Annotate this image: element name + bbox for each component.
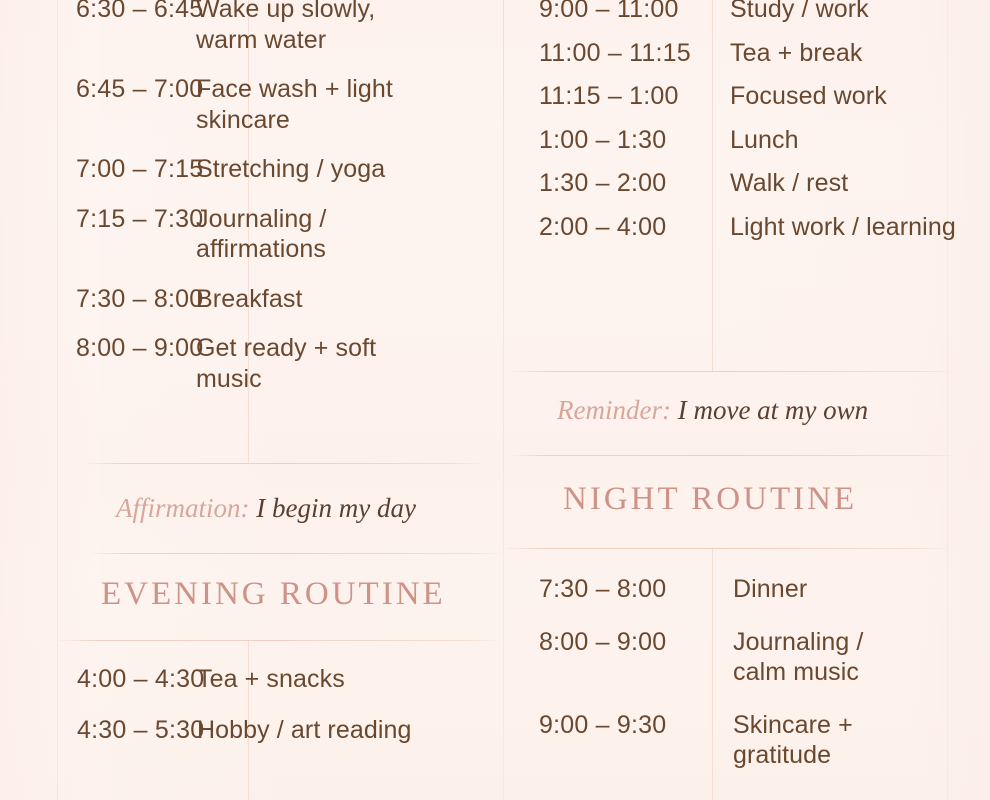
row-activity: Get ready + soft music — [175, 333, 428, 394]
row-time: 11:15 – 1:00 — [503, 81, 712, 112]
row-activity: Journaling / affirmations — [175, 204, 428, 265]
table-row: 1:30 – 2:00 Walk / rest — [503, 168, 990, 199]
row-activity: Walk / rest — [712, 168, 970, 199]
affirmation-bottom-divider — [92, 553, 502, 554]
table-row: 1:00 – 1:30 Lunch — [503, 125, 990, 156]
row-activity: Tea + break — [712, 38, 970, 69]
affirmation-text: I begin my day — [256, 493, 416, 523]
row-time: 2:00 – 4:00 — [503, 212, 712, 243]
table-row: 8:00 – 9:00 Journaling / calm music — [503, 627, 990, 688]
row-activity: Skincare + gratitude — [712, 710, 918, 771]
reminder-line: Reminder: I move at my own — [557, 394, 868, 426]
table-row: 2:00 – 4:00 Light work / learning — [503, 212, 990, 243]
affirmation-line: Affirmation: I begin my day — [116, 492, 416, 524]
row-activity: Hobby / art reading — [175, 715, 422, 746]
table-row: 4:30 – 5:30 Hobby / art reading — [0, 715, 503, 746]
table-row: 6:45 – 7:00 Face wash + light skincare — [0, 74, 503, 135]
table-row: 11:15 – 1:00 Focused work — [503, 81, 990, 112]
affirmation-label: Affirmation: — [116, 493, 250, 523]
row-time: 9:00 – 9:30 — [503, 710, 712, 741]
row-time: 4:00 – 4:30 — [0, 664, 175, 695]
row-activity: Lunch — [712, 125, 970, 156]
table-row: 7:15 – 7:30 Journaling / affirmations — [0, 204, 503, 265]
morning-routine-table: 6:30 – 6:45 Wake up slowly, warm water 6… — [0, 0, 503, 413]
row-time: 7:00 – 7:15 — [0, 154, 175, 185]
row-activity: Face wash + light skincare — [175, 74, 428, 135]
row-activity: Journaling / calm music — [712, 627, 918, 688]
row-activity: Focused work — [712, 81, 970, 112]
morning-section-divider — [88, 463, 485, 464]
table-row: 7:00 – 7:15 Stretching / yoga — [0, 154, 503, 185]
table-row: 7:30 – 8:00 Breakfast — [0, 284, 503, 315]
routine-planner-page: 6:30 – 6:45 Wake up slowly, warm water 6… — [0, 0, 990, 800]
evening-routine-table: 4:00 – 4:30 Tea + snacks 4:30 – 5:30 Hob… — [0, 664, 503, 765]
table-row: 9:00 – 9:30 Skincare + gratitude — [503, 710, 990, 771]
row-activity: Light work / learning — [712, 212, 970, 243]
night-routine-table: 7:30 – 8:00 Dinner 8:00 – 9:00 Journalin… — [503, 574, 990, 793]
reminder-text: I move at my own — [678, 395, 868, 425]
row-time: 8:00 – 9:00 — [0, 333, 175, 364]
day-routine-table: 9:00 – 11:00 Study / work 11:00 – 11:15 … — [503, 0, 990, 255]
row-activity: Dinner — [712, 574, 918, 605]
table-row: 8:00 – 9:00 Get ready + soft music — [0, 333, 503, 394]
row-time: 4:30 – 5:30 — [0, 715, 175, 746]
table-row: 4:00 – 4:30 Tea + snacks — [0, 664, 503, 695]
row-time: 6:45 – 7:00 — [0, 74, 175, 105]
row-time: 11:00 – 11:15 — [503, 38, 712, 69]
day-section-divider — [513, 371, 953, 372]
row-activity: Study / work — [712, 0, 970, 25]
reminder-label: Reminder: — [557, 395, 671, 425]
table-row: 9:00 – 11:00 Study / work — [503, 0, 990, 25]
row-time: 7:30 – 8:00 — [0, 284, 175, 315]
reminder-bottom-divider — [513, 455, 955, 456]
night-heading-divider — [506, 548, 949, 549]
row-time: 1:00 – 1:30 — [503, 125, 712, 156]
table-row: 11:00 – 11:15 Tea + break — [503, 38, 990, 69]
row-time: 7:30 – 8:00 — [503, 574, 712, 605]
row-activity: Stretching / yoga — [175, 154, 428, 185]
row-time: 8:00 – 9:00 — [503, 627, 712, 658]
row-time: 7:15 – 7:30 — [0, 204, 175, 235]
row-activity: Tea + snacks — [175, 664, 422, 695]
evening-routine-heading: EVENING ROUTINE — [101, 576, 446, 613]
row-time: 6:30 – 6:45 — [0, 0, 175, 25]
table-row: 6:30 – 6:45 Wake up slowly, warm water — [0, 0, 503, 55]
evening-heading-divider — [60, 640, 500, 641]
row-time: 1:30 – 2:00 — [503, 168, 712, 199]
night-routine-heading: NIGHT ROUTINE — [563, 481, 857, 518]
row-activity: Wake up slowly, warm water — [175, 0, 428, 55]
row-activity: Breakfast — [175, 284, 428, 315]
table-row: 7:30 – 8:00 Dinner — [503, 574, 990, 605]
row-time: 9:00 – 11:00 — [503, 0, 712, 25]
